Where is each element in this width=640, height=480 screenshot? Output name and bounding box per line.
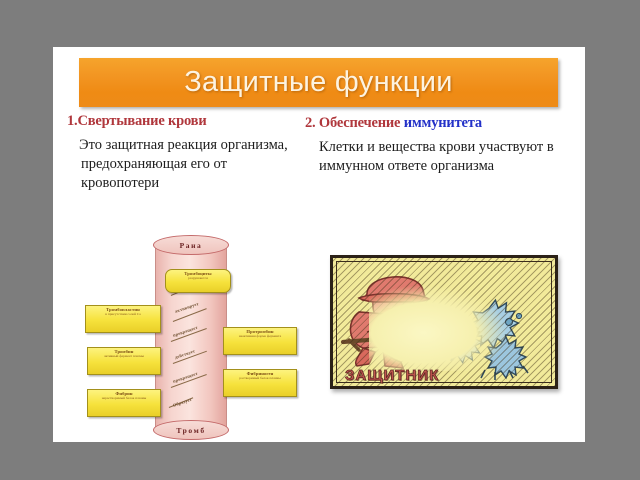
wound-label-ellipse: Рана (153, 235, 229, 255)
diagram-box-platelets: Тромбоциты разрушаются (165, 269, 231, 293)
diagram-box-prothrombin: Протромбин неактивная форма фермента (223, 327, 297, 355)
cartoon-inner-border (336, 261, 552, 383)
diagram-box-thromboplastin-subtitle: в присутствии солей Са (87, 313, 159, 317)
presentation-slide: Защитные функции 1.Свертывание крови Это… (53, 47, 585, 442)
diagram-box-platelets-subtitle: разрушаются (167, 277, 229, 281)
immunity-cartoon: ЗАЩИТНИК (330, 255, 558, 389)
column-immunity: 2. Обеспечение иммунитета Клетки и вещес… (305, 115, 573, 176)
slide-title-banner: Защитные функции (79, 58, 558, 107)
blood-clotting-diagram: Рана Тромб активирует превращает действу… (73, 237, 305, 437)
slide-canvas: Защитные функции 1.Свертывание крови Это… (0, 0, 640, 480)
body-blood-clotting: Это защитная реакция организма, предохра… (67, 136, 305, 193)
wound-label: Рана (180, 241, 203, 250)
column-blood-clotting: 1.Свертывание крови Это защитная реакция… (67, 113, 305, 193)
diagram-box-fibrin-subtitle: нерастворимый белок плазмы (89, 397, 159, 401)
diagram-box-thromboplastin: Тромбопластин в присутствии солей Са (85, 305, 161, 333)
cartoon-caption: ЗАЩИТНИК (345, 367, 439, 384)
thrombus-label-ellipse: Тромб (153, 420, 229, 440)
body-immunity: Клетки и вещества крови участвуют в имму… (305, 138, 573, 176)
thrombus-label: Тромб (176, 426, 205, 435)
diagram-box-thrombin: Тромбин активный фермент плазмы (87, 347, 161, 375)
heading-immunity-main: 2. Обеспечение (305, 115, 404, 131)
diagram-box-prothrombin-subtitle: неактивная форма фермента (225, 335, 295, 339)
page-title: Защитные функции (184, 66, 453, 99)
heading-immunity: 2. Обеспечение иммунитета (305, 115, 573, 132)
diagram-box-thrombin-subtitle: активный фермент плазмы (89, 355, 159, 359)
heading-blood-clotting: 1.Свертывание крови (67, 113, 305, 130)
heading-immunity-accent: иммунитета (404, 115, 482, 131)
diagram-box-fibrin: Фибрин нерастворимый белок плазмы (87, 389, 161, 417)
diagram-box-fibrinogen-subtitle: растворимый белок плазмы (225, 377, 295, 381)
diagram-box-fibrinogen: Фибриноген растворимый белок плазмы (223, 369, 297, 397)
